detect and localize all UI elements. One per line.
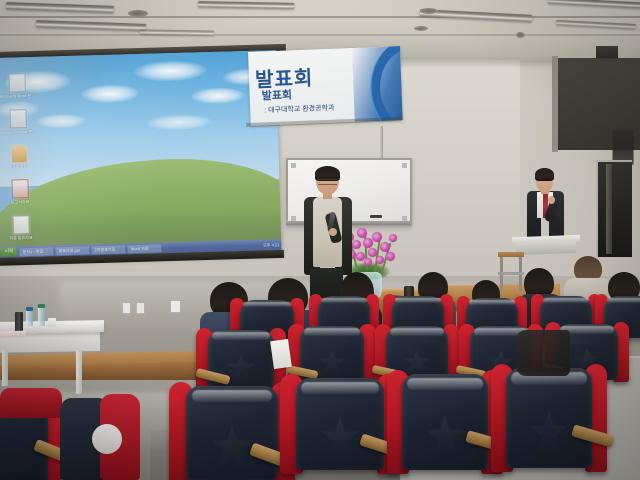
desktop-icon-label: 내 문서함: [0, 163, 39, 169]
orchid-bloom: [363, 238, 373, 248]
seat-cushion-left: [0, 388, 62, 418]
seat-crest: [321, 298, 367, 303]
text-document-icon: [12, 215, 30, 234]
seat-crest: [469, 300, 515, 305]
auditorium-seat: [186, 386, 278, 480]
desktop-icon-label: 최종 발표자료: [1, 235, 41, 241]
water-bottle: [26, 309, 33, 326]
paper-cup: [48, 318, 56, 327]
seat-crest: [407, 378, 483, 390]
table-leg: [2, 350, 8, 386]
wall-outlet-icon: [122, 302, 131, 314]
desktop-icon-label: Microsoft Word 문...: [0, 129, 38, 135]
bottle-cap: [38, 304, 45, 308]
wall-outlet-icon: [170, 300, 181, 313]
orchid-bloom: [368, 248, 377, 257]
ceiling-seam: [0, 34, 640, 36]
whiteboard-corner-clip: [291, 163, 296, 168]
draped-coat: [516, 330, 570, 376]
whiteboard-corner-clip: [402, 163, 407, 168]
seat-crest: [243, 302, 291, 308]
taskbar-item[interactable]: 2차발표자료: [91, 245, 125, 254]
seat-crest: [395, 298, 441, 303]
seat-crest: [607, 298, 640, 303]
chair-brace: [498, 272, 524, 275]
seat-crest: [301, 382, 378, 394]
rear-dark-panel: [556, 58, 640, 150]
word-document-icon: [8, 73, 26, 92]
taskbar-clock[interactable]: 오후 4:21: [263, 242, 279, 248]
bottle-cap: [26, 307, 33, 311]
attendee-hand: [548, 196, 555, 204]
ceiling-vent-icon: [516, 32, 525, 38]
start-button[interactable]: 시작: [0, 247, 17, 256]
attendee-hair: [535, 168, 554, 181]
seat-crest: [390, 328, 445, 335]
desktop-icon-label: Microsoft Word 문...: [0, 93, 37, 99]
side-desk-apron: [516, 241, 576, 255]
desktop-icon[interactable]: Microsoft Word 문...: [0, 73, 37, 99]
seat-crest: [543, 298, 589, 303]
auditorium-seat: [506, 368, 592, 468]
doorway: [596, 160, 632, 257]
presenter-hand: [329, 228, 337, 236]
desktop-icon[interactable]: 보고서자료: [0, 179, 40, 205]
seat-crest: [212, 332, 270, 340]
ceiling-vent-icon: [414, 26, 428, 31]
pdf-document-icon: [11, 179, 29, 198]
taskbar-item[interactable]: 발표자료.ppt: [56, 246, 90, 255]
door-jamb: [606, 164, 612, 254]
seat-crest: [192, 390, 273, 402]
ceiling-vent-icon: [420, 8, 438, 14]
orchid-bloom: [364, 258, 372, 266]
glasses-icon: [318, 179, 337, 185]
printed-handout: [270, 339, 292, 369]
orchid-bloom: [357, 228, 367, 238]
word-document-icon: [9, 109, 27, 128]
taskbar-item[interactable]: 문서1 - 한글: [20, 247, 54, 256]
ceiling-seam: [0, 16, 640, 18]
orchid-bloom: [380, 242, 390, 252]
table-leg: [76, 350, 82, 394]
desktop-icon[interactable]: 내 문서함: [0, 145, 39, 169]
photograph-scene: Microsoft Word 문... Microsoft Word 문... …: [0, 0, 640, 480]
event-banner: 발표회 발표회 : 대구대학교 환경공학과: [248, 46, 403, 126]
thermos-flask: [15, 312, 23, 332]
desktop-icon[interactable]: Microsoft Word 문...: [0, 109, 38, 135]
documents: [0, 331, 26, 338]
orchid-bloom: [386, 252, 395, 261]
desktop-icon[interactable]: 최종 발표자료: [0, 215, 41, 241]
orchid-bloom: [389, 234, 397, 242]
whiteboard-marker: [370, 215, 382, 218]
folder-icon: [11, 145, 26, 162]
auditorium-seat: [296, 378, 384, 470]
banner-swoosh-graphic: [315, 46, 402, 126]
water-bottle: [38, 306, 45, 326]
orchid-bloom: [372, 232, 382, 242]
taskbar-item[interactable]: Word 자료: [127, 244, 161, 253]
wall-outlet-icon: [136, 302, 145, 314]
rear-panel-edge: [552, 56, 558, 152]
desktop-icon-label: 보고서자료: [0, 199, 40, 205]
banner-subtitle: 발표회: [261, 86, 292, 103]
auditorium-seat: [402, 374, 488, 470]
orchid-bloom: [376, 256, 384, 264]
seat-crest: [304, 328, 360, 335]
ceiling-vent-icon: [128, 10, 148, 17]
projection-screen: Microsoft Word 문... Microsoft Word 문... …: [0, 50, 282, 262]
white-bag: [92, 424, 122, 454]
